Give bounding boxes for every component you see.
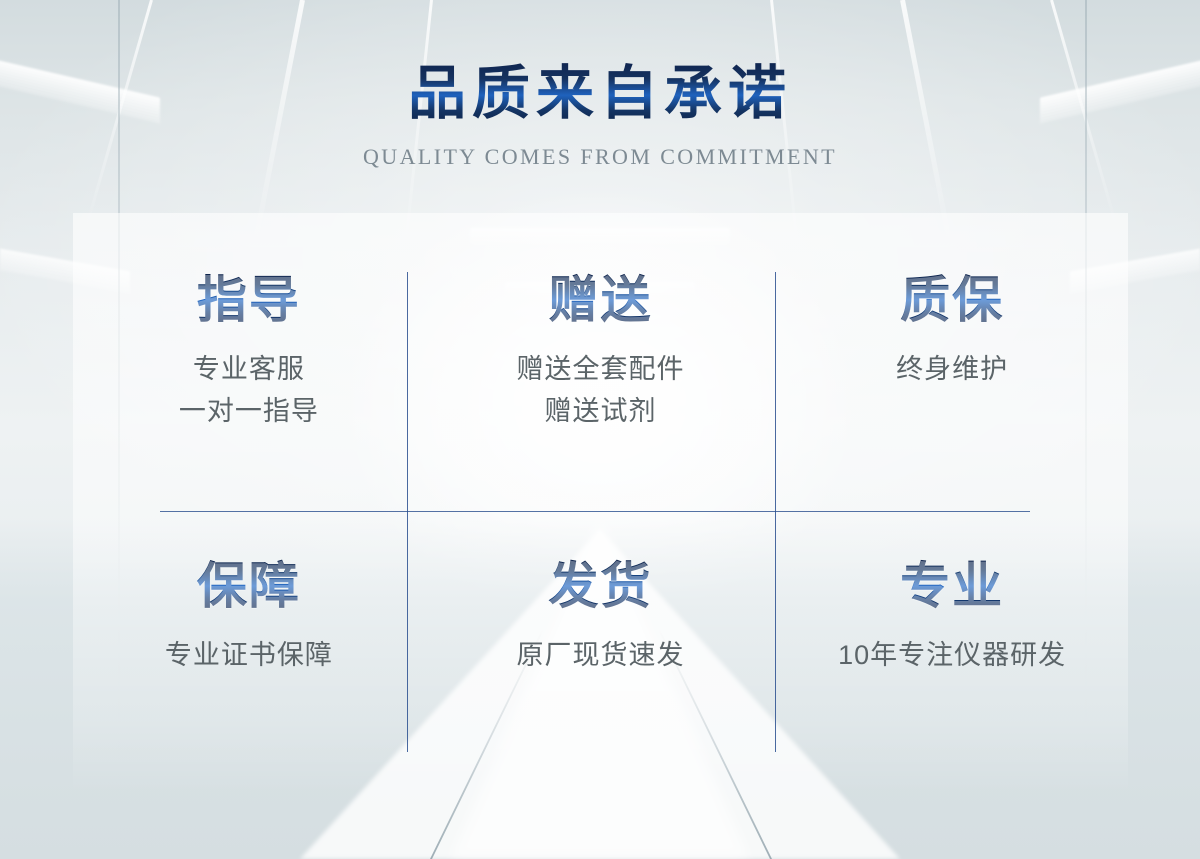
page-title: 品质来自承诺 — [408, 62, 792, 126]
feature-desc-guidance: 专业客服 一对一指导 — [179, 349, 319, 433]
feature-desc-line: 一对一指导 — [179, 391, 319, 433]
feature-cell-warranty: 质保 终身维护 — [776, 213, 1128, 511]
feature-cell-guidance: 指导 专业客服 一对一指导 — [73, 213, 425, 511]
feature-desc-line: 10年专注仪器研发 — [838, 635, 1066, 677]
banner-header: 品质来自承诺 QUALITY COMES FROM COMMITMENT — [0, 0, 1200, 170]
feature-desc-assurance: 专业证书保障 — [165, 635, 333, 677]
feature-desc-line: 赠送试剂 — [516, 391, 684, 433]
feature-desc-shipping: 原厂现货速发 — [516, 635, 684, 677]
feature-desc-line: 赠送全套配件 — [516, 349, 684, 391]
features-grid: 指导 专业客服 一对一指导 赠送 赠送全套配件 赠送试剂 质保 终身维护 — [73, 213, 1128, 793]
feature-desc-line: 专业证书保障 — [165, 635, 333, 677]
feature-title-guidance: 指导 — [197, 273, 301, 327]
promo-banner: 品质来自承诺 QUALITY COMES FROM COMMITMENT 指导 … — [0, 0, 1200, 859]
page-subtitle: QUALITY COMES FROM COMMITMENT — [0, 144, 1200, 170]
feature-desc-line: 原厂现货速发 — [516, 635, 684, 677]
feature-title-gift: 赠送 — [548, 273, 652, 327]
divider-horizontal — [160, 511, 1030, 512]
feature-desc-line: 专业客服 — [179, 349, 319, 391]
feature-cell-assurance: 保障 专业证书保障 — [73, 511, 425, 793]
feature-cell-professional: 专业 10年专注仪器研发 — [776, 511, 1128, 793]
feature-title-shipping: 发货 — [548, 559, 652, 613]
features-panel: 指导 专业客服 一对一指导 赠送 赠送全套配件 赠送试剂 质保 终身维护 — [73, 213, 1128, 793]
feature-desc-gift: 赠送全套配件 赠送试剂 — [516, 349, 684, 433]
divider-vertical-right — [775, 272, 776, 752]
feature-desc-professional: 10年专注仪器研发 — [838, 635, 1066, 677]
feature-desc-warranty: 终身维护 — [896, 349, 1008, 391]
feature-title-warranty: 质保 — [900, 273, 1004, 327]
divider-vertical-left — [407, 272, 408, 752]
feature-desc-line: 终身维护 — [896, 349, 1008, 391]
feature-title-professional: 专业 — [900, 559, 1004, 613]
feature-cell-shipping: 发货 原厂现货速发 — [425, 511, 777, 793]
feature-title-assurance: 保障 — [197, 559, 301, 613]
feature-cell-gift: 赠送 赠送全套配件 赠送试剂 — [425, 213, 777, 511]
